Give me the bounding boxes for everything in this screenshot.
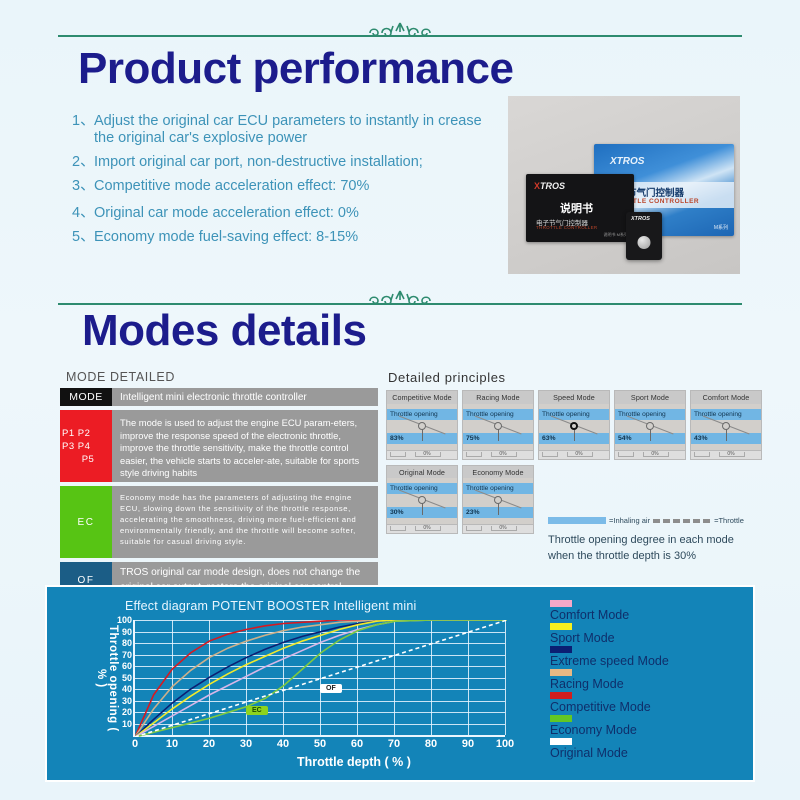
bullet-number: 3、: [72, 178, 94, 195]
card-title: Original Mode: [387, 466, 457, 479]
card-title: Sport Mode: [615, 391, 685, 404]
mode-value-cell: Economy mode has the parameters of adjus…: [112, 486, 378, 558]
bullet-number: 2、: [72, 154, 94, 171]
legend-label: Sport Mode: [550, 631, 669, 645]
throttle-swatch: [653, 519, 711, 523]
card-notch-left-icon: [390, 452, 406, 457]
card-notch-left-icon: [466, 526, 482, 531]
box-model: M系列: [714, 224, 728, 231]
card-foot-percent: 0%: [651, 451, 658, 457]
card-foot: 0%: [615, 450, 685, 459]
table-row: EC Economy mode has the parameters of ad…: [60, 486, 378, 558]
manual-chinese-title: 说明书: [560, 200, 593, 216]
card-body: Throttle opening 43%: [691, 404, 761, 450]
card-title: Speed Mode: [539, 391, 609, 404]
chart-legend: Comfort ModeSport ModeExtreme speed Mode…: [550, 600, 669, 761]
legend-swatch: [550, 600, 572, 607]
bullet-number: 1、: [72, 113, 94, 147]
card-stem-icon: [726, 429, 727, 441]
legend-item: Racing Mode: [550, 669, 669, 691]
chart-x-tick-label: 20: [203, 738, 215, 750]
product-photo: XTROS 电子节气门控制器 THROTTLE CONTROLLER M系列 X…: [508, 96, 740, 274]
chart-y-tick-label: 30: [122, 696, 132, 706]
card-body: Throttle opening 30%: [387, 478, 457, 524]
ornament-icon: [352, 20, 448, 46]
bullet-number: 5、: [72, 229, 94, 246]
p-label-row2: P3 P4: [62, 440, 90, 453]
legend-row: =Inhaling air =Throttle: [548, 516, 756, 525]
device-button-icon: [638, 236, 651, 249]
chart-x-tick-label: 70: [388, 738, 400, 750]
chart-y-tick-label: 40: [122, 684, 132, 694]
mode-key-cell: EC: [60, 486, 112, 558]
card-title: Comfort Mode: [691, 391, 761, 404]
list-item: 1、 Adjust the original car ECU parameter…: [72, 113, 502, 147]
mode-table-label: MODE DETAILED: [66, 370, 175, 384]
card-stem-icon: [498, 503, 499, 515]
manual-logo: XTROS: [534, 181, 565, 191]
chart-y-tick-label: 60: [122, 661, 132, 671]
product-device: XTROS: [626, 212, 662, 260]
chart-x-axis-title: Throttle depth ( % ): [297, 755, 411, 769]
legend-label: Racing Mode: [550, 677, 669, 691]
legend-label: Extreme speed Mode: [550, 654, 669, 668]
legend-item: Competitive Mode: [550, 692, 669, 714]
manual-logo-rest: TROS: [540, 181, 565, 191]
throttle-label: =Throttle: [714, 516, 744, 525]
legend-swatch: [550, 692, 572, 699]
legend-caption-line1: Throttle opening degree in each mode: [548, 532, 756, 548]
principle-card-row-1: Competitive Mode Throttle opening 83% 0%…: [386, 390, 762, 460]
card-body: Throttle opening 75%: [463, 404, 533, 450]
card-foot: 0%: [463, 524, 533, 533]
legend-swatch: [550, 738, 572, 745]
card-notch-left-icon: [390, 526, 406, 531]
card-title: Economy Mode: [463, 466, 533, 479]
legend-item: Comfort Mode: [550, 600, 669, 622]
card-title: Racing Mode: [463, 391, 533, 404]
mode-value-cell: The mode is used to adjust the engine EC…: [112, 410, 378, 482]
card-stem-icon: [422, 429, 423, 441]
chart-y-tick-label: 80: [122, 638, 132, 648]
chart-title: Effect diagram POTENT BOOSTER Intelligen…: [125, 599, 416, 613]
card-foot-percent: 0%: [423, 451, 430, 457]
chart-curves: [135, 620, 507, 737]
chart-y-tick-label: 20: [122, 707, 132, 717]
legend-item: Sport Mode: [550, 623, 669, 645]
legend-item: Economy Mode: [550, 715, 669, 737]
p-label-row3: P5: [62, 453, 110, 466]
card-knob-icon: [418, 422, 426, 430]
chart-y-tick-label: 90: [122, 627, 132, 637]
legend-label: Comfort Mode: [550, 608, 669, 622]
mode-value-cell: Intelligent mini electronic throttle con…: [112, 388, 378, 406]
manual-serial: 说明书 M系列: [604, 232, 628, 238]
mode-key-cell: MODE: [60, 388, 112, 406]
chart-annotation-of: OF: [320, 684, 342, 693]
chart-x-tick-label: 30: [240, 738, 252, 750]
manual-english-sub: THROTTLE CONTROLLER: [536, 225, 597, 230]
legend-swatch: [550, 623, 572, 630]
legend-item: Extreme speed Mode: [550, 646, 669, 668]
card-body: Throttle opening 63%: [539, 404, 609, 450]
mode-detailed-table: MODE Intelligent mini electronic throttl…: [60, 388, 378, 602]
page-title-performance: Product performance: [78, 44, 513, 94]
chart-y-tick-label: 100: [117, 615, 132, 625]
card-knob-icon: [494, 496, 502, 504]
card-foot: 0%: [387, 450, 457, 459]
card-stem-icon: [422, 503, 423, 515]
bullet-text: Competitive mode acceleration effect: 70…: [94, 178, 502, 195]
device-logo: XTROS: [631, 216, 650, 222]
bullet-text: Original car mode acceleration effect: 0…: [94, 205, 502, 222]
list-item: 5、 Economy mode fuel-saving effect: 8-15…: [72, 229, 502, 246]
chart-y-tick-label: 10: [122, 719, 132, 729]
chart-y-axis-title: Throttle opening ( % ): [103, 620, 119, 737]
product-manual: XTROS 说明书 电子节气门控制器 THROTTLE CONTROLLER 说…: [526, 174, 634, 242]
chart-axes: 102030405060708090100 010203040506070809…: [133, 620, 505, 737]
principle-card: Comfort Mode Throttle opening 43% 0%: [690, 390, 762, 460]
table-row: MODE Intelligent mini electronic throttl…: [60, 388, 378, 406]
card-body: Throttle opening 54%: [615, 404, 685, 450]
card-notch-left-icon: [694, 452, 710, 457]
bullet-text: Adjust the original car ECU parameters t…: [94, 113, 502, 147]
chart-annotation-ec: EC: [246, 706, 268, 715]
chart-x-tick-label: 100: [496, 738, 514, 750]
card-foot: 0%: [387, 524, 457, 533]
card-foot-percent: 0%: [727, 451, 734, 457]
card-foot: 0%: [691, 450, 761, 459]
principle-card: Speed Mode Throttle opening 63% 0%: [538, 390, 610, 460]
legend-swatch: [550, 669, 572, 676]
table-row: P1 P2 P3 P4 P5 The mode is used to adjus…: [60, 410, 378, 482]
legend-label: Competitive Mode: [550, 700, 669, 714]
bullet-number: 4、: [72, 205, 94, 222]
card-stem-icon: [498, 429, 499, 441]
principle-card: Racing Mode Throttle opening 75% 0%: [462, 390, 534, 460]
principle-card: Original Mode Throttle opening 30% 0%: [386, 465, 458, 535]
bullet-text: Import original car port, non-destructiv…: [94, 154, 502, 171]
card-foot-percent: 0%: [423, 525, 430, 531]
list-item: 4、 Original car mode acceleration effect…: [72, 205, 502, 222]
chart-series-original-mode: [135, 620, 507, 737]
card-stem-icon: [574, 429, 575, 441]
card-foot-percent: 0%: [499, 525, 506, 531]
chart-x-tick-label: 0: [132, 738, 138, 750]
list-item: 3、 Competitive mode acceleration effect:…: [72, 178, 502, 195]
card-foot: 0%: [463, 450, 533, 459]
chart-x-tick-label: 80: [425, 738, 437, 750]
inhaling-air-swatch: [548, 517, 606, 524]
card-notch-left-icon: [542, 452, 558, 457]
performance-bullet-list: 1、 Adjust the original car ECU parameter…: [72, 113, 502, 253]
card-knob-icon: [722, 422, 730, 430]
inhaling-air-label: =Inhaling air: [609, 516, 650, 525]
mode-key-cell-p-series: P1 P2 P3 P4 P5: [60, 410, 112, 482]
chart-y-tick-label: 70: [122, 650, 132, 660]
legend-label: Economy Mode: [550, 723, 669, 737]
card-stem-icon: [650, 429, 651, 441]
page-title-modes: Modes details: [82, 306, 366, 356]
box-logo: XTROS: [610, 156, 644, 167]
card-foot-percent: 0%: [499, 451, 506, 457]
p-label-row1: P1 P2: [62, 427, 90, 440]
principles-legend: =Inhaling air =Throttle Throttle opening…: [548, 516, 756, 564]
card-title: Competitive Mode: [387, 391, 457, 404]
principle-card: Economy Mode Throttle opening 23% 0%: [462, 465, 534, 535]
legend-swatch: [550, 715, 572, 722]
infographic-page: Product performance 1、 Adjust the origin…: [0, 0, 800, 800]
principles-label: Detailed principles: [388, 370, 506, 385]
effect-diagram-panel: Effect diagram POTENT BOOSTER Intelligen…: [45, 585, 755, 782]
card-knob-icon: [494, 422, 502, 430]
bullet-text: Economy mode fuel-saving effect: 8-15%: [94, 229, 502, 246]
legend-swatch: [550, 646, 572, 653]
chart-x-tick-label: 40: [277, 738, 289, 750]
card-notch-left-icon: [466, 452, 482, 457]
list-item: 2、 Import original car port, non-destruc…: [72, 154, 502, 171]
card-knob-icon: [570, 422, 578, 430]
chart-x-tick-label: 60: [351, 738, 363, 750]
card-notch-left-icon: [618, 452, 634, 457]
principle-card: Sport Mode Throttle opening 54% 0%: [614, 390, 686, 460]
card-foot-percent: 0%: [575, 451, 582, 457]
chart-plot-area: 102030405060708090100 010203040506070809…: [133, 620, 505, 737]
legend-item: Original Mode: [550, 738, 669, 760]
legend-label: Original Mode: [550, 746, 669, 760]
chart-x-tick-label: 50: [314, 738, 326, 750]
card-knob-icon: [646, 422, 654, 430]
chart-x-tick-label: 10: [166, 738, 178, 750]
card-body: Throttle opening 83%: [387, 404, 457, 450]
legend-caption-line2: when the throttle depth is 30%: [548, 548, 756, 564]
principle-card: Competitive Mode Throttle opening 83% 0%: [386, 390, 458, 460]
card-foot: 0%: [539, 450, 609, 459]
chart-y-tick-label: 50: [122, 673, 132, 683]
chart-x-tick-label: 90: [462, 738, 474, 750]
card-body: Throttle opening 23%: [463, 478, 533, 524]
card-knob-icon: [418, 496, 426, 504]
